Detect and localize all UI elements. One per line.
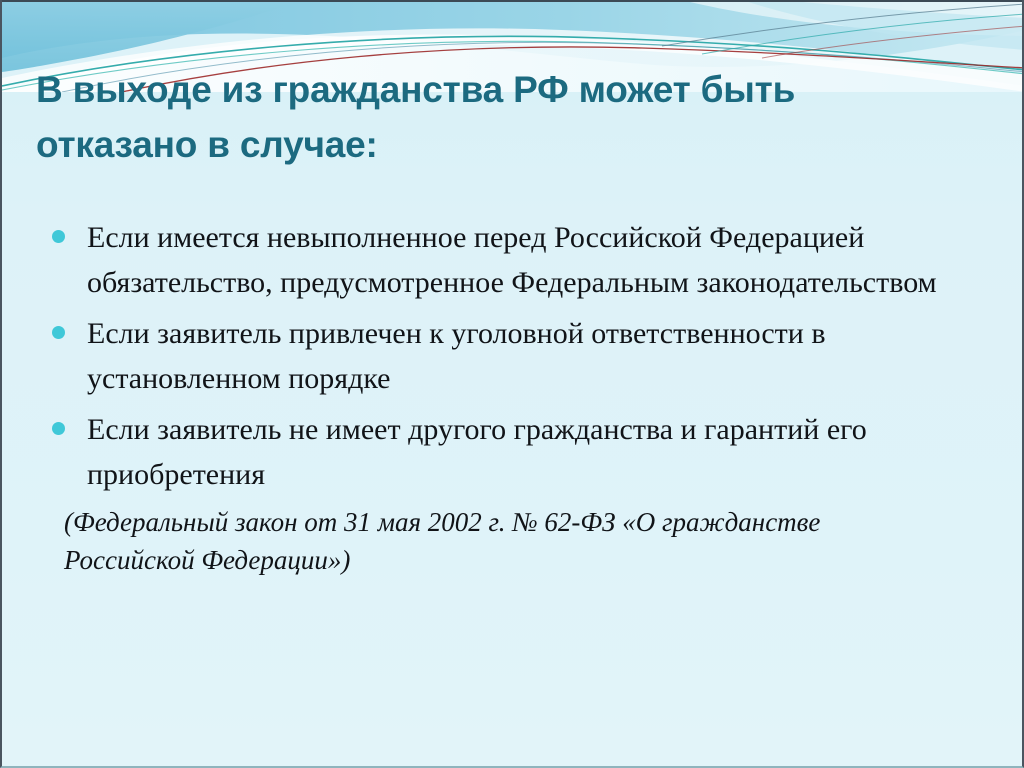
bullet-dot-icon	[52, 422, 65, 435]
bullet-text-3: Если заявитель не имеет другого гражданс…	[87, 407, 952, 497]
list-item: Если заявитель не имеет другого гражданс…	[52, 407, 952, 497]
page-title: В выходе из гражданства РФ может быть от…	[36, 62, 976, 172]
title-line-1: В выходе из гражданства РФ может быть	[36, 62, 976, 117]
list-item: Если имеется невыполненное перед Российс…	[52, 215, 952, 305]
slide-content: Если имеется невыполненное перед Российс…	[52, 215, 952, 579]
bullet-text-2: Если заявитель привлечен к уголовной отв…	[87, 311, 952, 401]
slide-top-border	[2, 0, 1024, 2]
title-line-2: отказано в случае:	[36, 117, 976, 172]
law-citation: (Федеральный закон от 31 мая 2002 г. № 6…	[64, 503, 894, 579]
bullet-text-1: Если имеется невыполненное перед Российс…	[87, 215, 952, 305]
bullet-dot-icon	[52, 230, 65, 243]
bullet-dot-icon	[52, 326, 65, 339]
list-item: Если заявитель привлечен к уголовной отв…	[52, 311, 952, 401]
slide: В выходе из гражданства РФ может быть от…	[0, 0, 1024, 768]
